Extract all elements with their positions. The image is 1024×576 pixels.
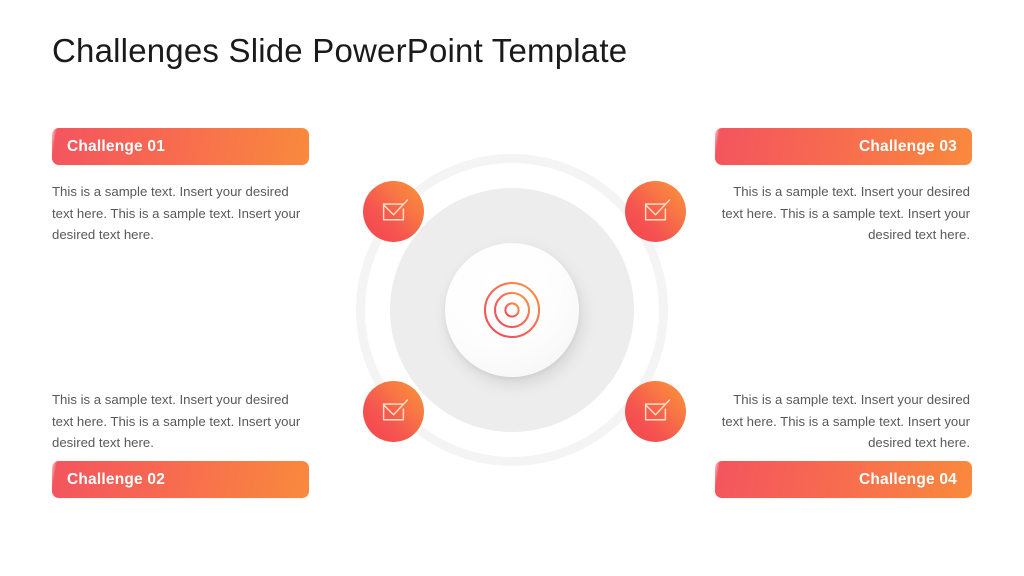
challenge-bar-04[interactable]: Challenge 04 [715, 461, 972, 498]
challenge-bar-label-03: Challenge 03 [859, 138, 957, 156]
envelope-check-icon [639, 195, 672, 228]
page-title: Challenges Slide PowerPoint Template [52, 32, 627, 70]
node-circle-01[interactable] [363, 181, 424, 242]
envelope-check-icon [377, 395, 410, 428]
challenge-bar-label-04: Challenge 04 [859, 471, 957, 489]
node-circle-03[interactable] [625, 181, 686, 242]
challenge-bar-02[interactable]: Challenge 02 [52, 461, 309, 498]
challenge-bar-03[interactable]: Challenge 03 [715, 128, 972, 165]
envelope-check-icon [639, 395, 672, 428]
node-circle-04[interactable] [625, 381, 686, 442]
challenge-text-02: This is a sample text. Insert your desir… [52, 389, 307, 454]
challenge-text-03: This is a sample text. Insert your desir… [715, 181, 970, 246]
challenge-text-01: This is a sample text. Insert your desir… [52, 181, 307, 246]
node-circle-02[interactable] [363, 381, 424, 442]
slide-canvas: Challenges Slide PowerPoint Template [0, 0, 1024, 576]
envelope-check-icon [377, 195, 410, 228]
target-crosshair-icon [470, 268, 554, 352]
challenge-text-04: This is a sample text. Insert your desir… [715, 389, 970, 454]
challenge-bar-label-01: Challenge 01 [67, 138, 165, 156]
challenge-bar-01[interactable]: Challenge 01 [52, 128, 309, 165]
center-diagram [337, 135, 687, 485]
challenge-bar-label-02: Challenge 02 [67, 471, 165, 489]
